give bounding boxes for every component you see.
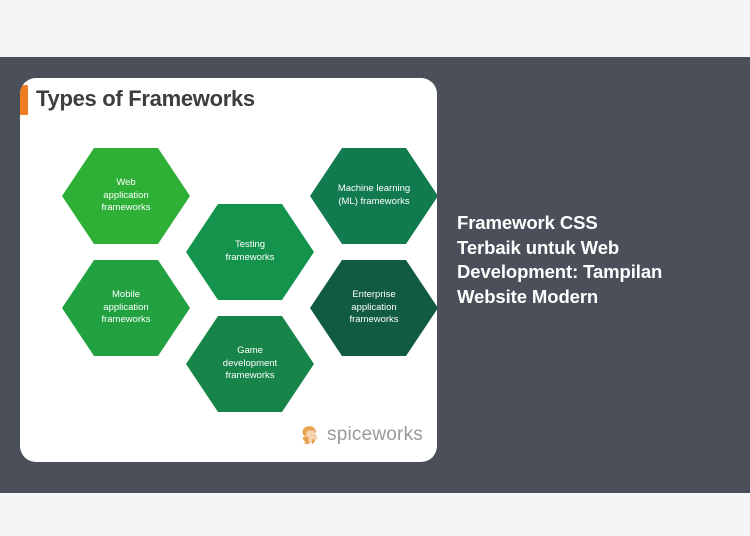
hexagon-label-line: frameworks <box>101 314 150 327</box>
hexagon-label: Enterpriseapplicationframeworks <box>349 289 398 327</box>
page-root: Types of Frameworks Webapplicationframew… <box>0 0 750 536</box>
hexagon-label-line: Mobile <box>101 289 150 302</box>
hexagon-label: Testingframeworks <box>225 239 274 265</box>
hexagon-machine-learning-ml-frameworks: Machine learning(ML) frameworks <box>310 148 437 244</box>
spiceworks-logo: spiceworks <box>299 424 423 446</box>
headline-line: Development: Tampilan <box>457 260 725 285</box>
hexagon-label-line: development <box>223 358 277 371</box>
infographic-card: Types of Frameworks Webapplicationframew… <box>20 78 437 462</box>
spiceworks-swirl-icon <box>299 424 321 446</box>
hexagon-enterprise-application-frameworks: Enterpriseapplicationframeworks <box>310 260 437 356</box>
hexagon-label: Gamedevelopmentframeworks <box>223 345 277 383</box>
hexagon-label-line: frameworks <box>101 202 150 215</box>
hexagon-web-application-frameworks: Webapplicationframeworks <box>62 148 190 244</box>
hexagon-testing-frameworks: Testingframeworks <box>186 204 314 300</box>
spiceworks-wordmark: spiceworks <box>327 424 423 446</box>
hexagon-label-line: frameworks <box>225 252 274 265</box>
hexagon-label: Webapplicationframeworks <box>101 177 150 215</box>
hexagon-game-development-frameworks: Gamedevelopmentframeworks <box>186 316 314 412</box>
hexagon-label-line: Machine learning <box>338 183 410 196</box>
article-headline: Framework CSSTerbaik untuk WebDevelopmen… <box>457 211 725 309</box>
hexagon-label-line: application <box>101 190 150 203</box>
hexagon-label-line: application <box>101 302 150 315</box>
headline-line: Terbaik untuk Web <box>457 236 725 261</box>
hexagon-label-line: Web <box>101 177 150 190</box>
headline-line: Framework CSS <box>457 211 725 236</box>
hexagon-diagram: WebapplicationframeworksMobileapplicatio… <box>20 78 437 462</box>
hexagon-label-line: frameworks <box>223 370 277 383</box>
hexagon-label-line: Testing <box>225 239 274 252</box>
hexagon-mobile-application-frameworks: Mobileapplicationframeworks <box>62 260 190 356</box>
hexagon-label-line: (ML) frameworks <box>338 196 410 209</box>
headline-line: Website Modern <box>457 285 725 310</box>
hexagon-label-line: frameworks <box>349 314 398 327</box>
hexagon-label: Machine learning(ML) frameworks <box>338 183 410 209</box>
hexagon-label-line: Game <box>223 345 277 358</box>
hexagon-label: Mobileapplicationframeworks <box>101 289 150 327</box>
hexagon-label-line: Enterprise <box>349 289 398 302</box>
hexagon-label-line: application <box>349 302 398 315</box>
